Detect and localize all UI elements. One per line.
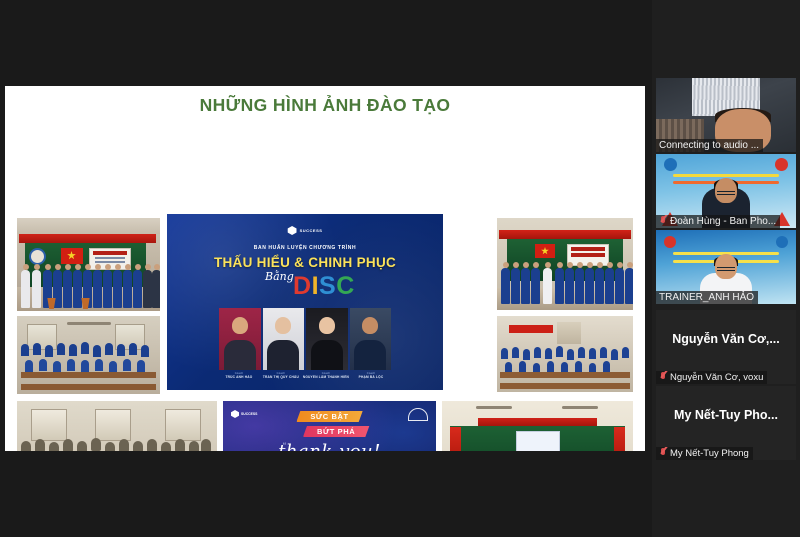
participant-video-strip[interactable]: Connecting to audio ... Đoàn Hùng - Ban … bbox=[652, 0, 800, 537]
photo-top-right-group bbox=[497, 218, 633, 310]
participant-tile-my-net-tuy-phong[interactable]: My Nết-Tuy Pho... My Nết-Tuy Phong bbox=[656, 386, 796, 460]
mic-muted-icon bbox=[659, 372, 667, 383]
participant-name-label: My Nết-Tuy Phong bbox=[656, 447, 753, 460]
photo-thankyou-slide: SUCCESS SỨC BẬT BỨT PHÁ “ ” thank you! C… bbox=[223, 401, 436, 451]
shared-screen-slide[interactable]: NHỮNG HÌNH ẢNH ĐÀO TẠO bbox=[5, 86, 645, 451]
photo-disc-training-slide: SUCCESS BAN HUẤN LUYỆN CHƯƠNG TRÌNH THẤU… bbox=[167, 214, 443, 390]
participant-tile-doan-hung[interactable]: Đoàn Hùng - Ban Pho... bbox=[656, 154, 796, 228]
aia-logo-icon bbox=[408, 408, 428, 421]
photo-top-left-group bbox=[17, 218, 160, 311]
participant-name-label: Connecting to audio ... bbox=[656, 139, 763, 152]
participant-name-label: Nguyễn Văn Cơ, voxu bbox=[656, 371, 767, 384]
zoom-meeting-window: NHỮNG HÌNH ẢNH ĐÀO TẠO bbox=[0, 0, 800, 537]
thankyou-tag-1: SỨC BẬT bbox=[296, 411, 362, 422]
disc-letters: DISC bbox=[293, 274, 355, 299]
thankyou-text: thank you! bbox=[223, 441, 436, 451]
photo-bottom-right-group bbox=[442, 401, 633, 451]
disc-coach-photos bbox=[219, 308, 391, 370]
mic-muted-icon bbox=[659, 448, 667, 459]
thankyou-tag-2: BỨT PHÁ bbox=[303, 426, 369, 437]
participant-placeholder-name: Nguyễn Văn Cơ,... bbox=[656, 332, 796, 346]
disc-script-word: Bằng bbox=[265, 270, 294, 283]
participant-tile-nguyen-van-co[interactable]: Nguyễn Văn Cơ,... Nguyễn Văn Cơ, voxu bbox=[656, 310, 796, 384]
page-title: NHỮNG HÌNH ẢNH ĐÀO TẠO bbox=[5, 95, 645, 116]
success-logo-icon: SUCCESS bbox=[231, 410, 257, 418]
photo-left-classroom bbox=[17, 316, 160, 394]
participant-name-label: Đoàn Hùng - Ban Pho... bbox=[656, 215, 780, 228]
disc-pre-title: BAN HUẤN LUYỆN CHƯƠNG TRÌNH bbox=[167, 245, 443, 251]
photo-right-lecture-hall bbox=[497, 316, 633, 392]
participant-tile-trainer-anh-hao[interactable]: TRAINER_ANH HẢO bbox=[656, 230, 796, 304]
participant-placeholder-name: My Nết-Tuy Pho... bbox=[656, 408, 796, 422]
success-logo-icon: SUCCESS bbox=[288, 226, 323, 235]
participant-tile-connecting-audio[interactable]: Connecting to audio ... bbox=[656, 78, 796, 152]
disc-coach-names: CoachTRÚC ANH HÀO CoachTRẦN THỊ QUÝ CHÂU… bbox=[219, 372, 391, 388]
mic-muted-icon bbox=[659, 216, 667, 227]
participant-name-label: TRAINER_ANH HẢO bbox=[656, 291, 758, 304]
photo-bottom-left-students bbox=[17, 401, 217, 451]
disc-headline: THẤU HIỂU & CHINH PHỤC bbox=[167, 255, 443, 270]
